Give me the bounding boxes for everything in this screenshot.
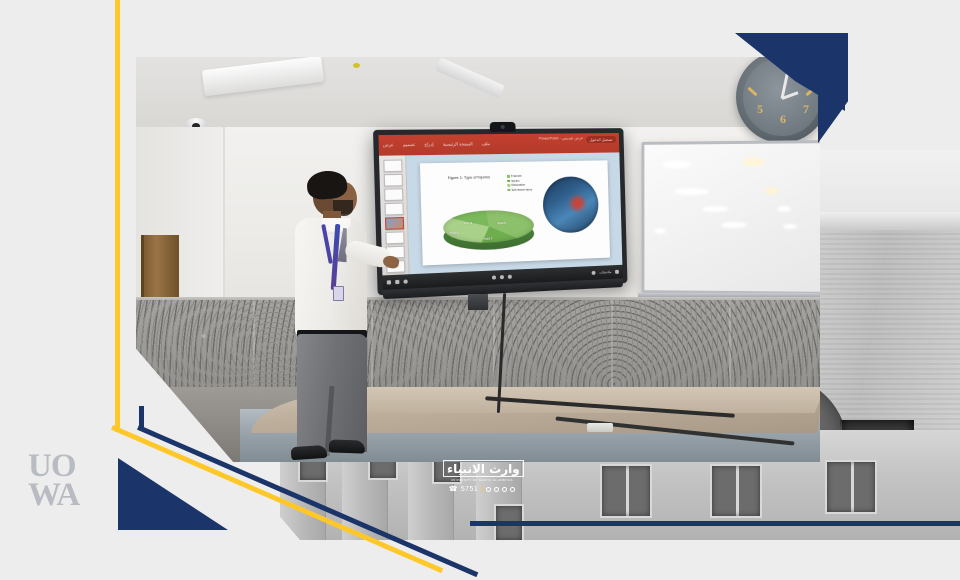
poster-canvas: 5 6 7 [0, 0, 960, 580]
pie-label-sprain: %25.7 [484, 237, 493, 241]
notes-icon[interactable] [500, 275, 504, 279]
watermark-separator: | [481, 486, 483, 493]
current-slide[interactable]: Figure 1: Type of Injuries Fracture Spra… [420, 160, 610, 265]
slideshow-icon[interactable] [403, 279, 407, 283]
watermark-phone: 5751 [461, 486, 478, 493]
legend-item-soft-tissue: Soft tissue injury [507, 187, 532, 192]
whiteboard [641, 140, 820, 295]
ribbon-tab-file[interactable]: ملف [482, 141, 490, 147]
pie-label-dislocation: %21.4 [463, 221, 472, 225]
accent-line-navy-horizontal [470, 521, 960, 526]
ceiling-marker [353, 63, 360, 68]
accent-line-yellow-vertical [115, 0, 120, 432]
building-window [825, 460, 877, 514]
phone-icon: ☎ [449, 485, 458, 493]
clock-numeral-5: 5 [757, 102, 763, 117]
ribbon-tab-insert[interactable]: إدراج [424, 142, 434, 148]
panel-wall-mount [468, 294, 488, 310]
watermark: وارث الانبياء UNIVERSITY OF WARITH AL-AN… [443, 460, 521, 493]
facebook-icon[interactable] [486, 487, 491, 492]
slide-canvas[interactable]: Figure 1: Type of Injuries Fracture Spra… [406, 152, 622, 274]
zoom-out-icon[interactable] [592, 271, 596, 275]
building-window [710, 464, 762, 518]
watermark-arabic-logo: وارث الانبياء [443, 460, 524, 477]
pie-label-fracture: %34.5 [497, 221, 506, 225]
clock-tick [747, 87, 757, 97]
reading-view-icon[interactable] [395, 280, 399, 284]
building-window [600, 464, 652, 518]
pie-chart: %34.5 %25.7 %21.4 %18.6 [439, 203, 539, 258]
pie-label-soft-tissue: %18.6 [450, 230, 459, 234]
floor-power-box [587, 423, 613, 432]
ribbon-document-title: عرض تقديمي - PowerPoint [539, 135, 584, 140]
fit-slide-icon[interactable] [615, 270, 619, 274]
interactive-flat-panel[interactable]: ملف الصفحة الرئيسية إدراج تصميم عرض عرض … [373, 128, 627, 295]
uowa-logo-line2: WA [28, 481, 108, 510]
sign-in-button[interactable]: تسجيل الدخول [586, 135, 617, 142]
presenter [283, 174, 395, 462]
panel-camera-icon [489, 122, 515, 132]
instagram-icon[interactable] [494, 487, 499, 492]
uowa-logo: UO WA [28, 452, 108, 534]
ribbon-tab-design[interactable]: تصميم [403, 142, 415, 148]
clock-numeral-6: 6 [780, 112, 786, 127]
figure-title: Figure 1: Type of Injuries [448, 175, 490, 180]
presenter-shoe-left [291, 445, 328, 460]
watermark-contact: ☎ 5751 | [443, 485, 521, 493]
wall-corner-edge [223, 127, 225, 303]
slide-injury-photo [542, 176, 598, 234]
clock-numeral-7: 7 [803, 102, 809, 117]
ribbon-tab-view[interactable]: عرض [383, 142, 394, 148]
status-notes-label[interactable]: ملاحظات [599, 270, 611, 274]
panel-screen[interactable]: ملف الصفحة الرئيسية إدراج تصميم عرض عرض … [378, 133, 622, 290]
comments-icon[interactable] [508, 275, 512, 279]
slide-thumb-1[interactable] [383, 160, 402, 173]
ribbon-tab-home[interactable]: الصفحة الرئيسية [443, 141, 473, 147]
youtube-icon[interactable] [510, 487, 515, 492]
watermark-subtitle: UNIVERSITY OF WARITH AL-ANBIYAA [443, 479, 521, 482]
normal-view-icon[interactable] [492, 275, 496, 279]
presenter-shoe-right [329, 439, 365, 453]
chart-legend: Fracture Sprain Dislocation Soft tissue … [507, 174, 532, 192]
twitter-icon[interactable] [502, 487, 507, 492]
presentation-photo: 5 6 7 [135, 57, 820, 462]
presenter-id-badge [333, 286, 344, 301]
